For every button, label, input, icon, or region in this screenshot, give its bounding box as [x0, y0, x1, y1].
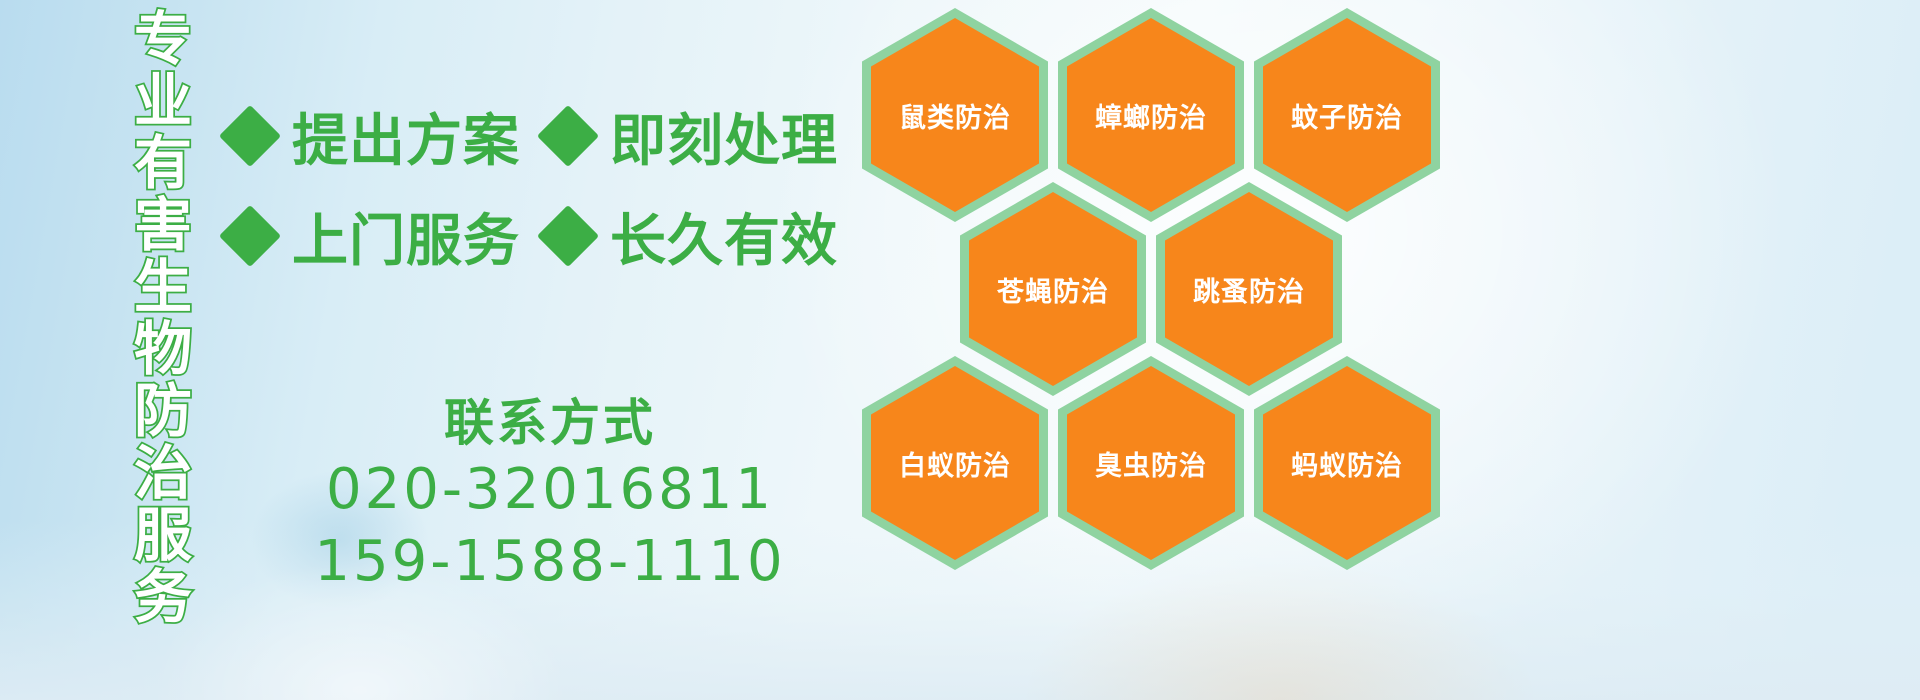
- feature-label: 提出方案: [292, 96, 520, 177]
- feature-label: 长久有效: [610, 196, 838, 277]
- contact-phone-landline[interactable]: 020-32016811: [230, 454, 870, 526]
- feature-label: 上门服务: [292, 196, 520, 277]
- vertical-title-char: 生: [134, 256, 192, 318]
- service-label: 跳蚤防治: [1193, 270, 1305, 309]
- vertical-title-char: 务: [134, 566, 192, 628]
- feature-list: 提出方案 即刻处理 上门服务 长久有效: [228, 86, 868, 286]
- service-label: 蚂蚁防治: [1291, 444, 1403, 483]
- service-hex-termite[interactable]: 白蚁防治: [862, 356, 1048, 570]
- service-label: 鼠类防治: [899, 96, 1011, 135]
- service-label: 白蚁防治: [899, 444, 1011, 483]
- hex-inner-fill: 鼠类防治: [871, 18, 1039, 212]
- feature-item-immediate-handling: 即刻处理: [546, 96, 838, 177]
- hex-inner-fill: 蚊子防治: [1263, 18, 1431, 212]
- feature-row: 提出方案 即刻处理: [228, 86, 868, 186]
- service-hex-ant[interactable]: 蚂蚁防治: [1254, 356, 1440, 570]
- feature-label: 即刻处理: [610, 96, 838, 177]
- service-label: 苍蝇防治: [997, 270, 1109, 309]
- vertical-title-char: 业: [134, 70, 192, 132]
- diamond-bullet-icon: [219, 105, 281, 167]
- contact-block: 联系方式 020-32016811 159-1588-1110: [230, 392, 870, 598]
- vertical-title-char: 有: [134, 132, 192, 194]
- hex-inner-fill: 苍蝇防治: [969, 192, 1137, 386]
- vertical-title-char: 治: [134, 442, 192, 504]
- service-hex-flea[interactable]: 跳蚤防治: [1156, 182, 1342, 396]
- service-label: 蚊子防治: [1291, 96, 1403, 135]
- pest-control-banner: 专 业 有 害 生 物 防 治 服 务 提出方案 即刻处理 上门服务: [0, 0, 1920, 700]
- hex-inner-fill: 跳蚤防治: [1165, 192, 1333, 386]
- feature-item-long-lasting-effect: 长久有效: [546, 196, 838, 277]
- contact-phone-mobile[interactable]: 159-1588-1110: [230, 526, 870, 598]
- vertical-title: 专 业 有 害 生 物 防 治 服 务: [108, 8, 218, 568]
- vertical-title-char: 害: [134, 194, 192, 256]
- service-hex-bedbug[interactable]: 臭虫防治: [1058, 356, 1244, 570]
- hex-inner-fill: 白蚁防治: [871, 366, 1039, 560]
- service-hex-fly[interactable]: 苍蝇防治: [960, 182, 1146, 396]
- contact-heading: 联系方式: [230, 392, 870, 454]
- service-label: 臭虫防治: [1095, 444, 1207, 483]
- diamond-bullet-icon: [537, 205, 599, 267]
- vertical-title-char: 服: [134, 504, 192, 566]
- feature-item-door-to-door-service: 上门服务: [228, 196, 520, 277]
- vertical-title-char: 防: [134, 380, 192, 442]
- hex-inner-fill: 臭虫防治: [1067, 366, 1235, 560]
- service-honeycomb: 鼠类防治 蟑螂防治 蚊子防治 苍蝇防治 跳蚤防治 白蚁防治: [862, 0, 1462, 560]
- service-hex-mosquito[interactable]: 蚊子防治: [1254, 8, 1440, 222]
- feature-item-propose-plan: 提出方案: [228, 96, 520, 177]
- feature-row: 上门服务 长久有效: [228, 186, 868, 286]
- service-hex-cockroach[interactable]: 蟑螂防治: [1058, 8, 1244, 222]
- hex-inner-fill: 蟑螂防治: [1067, 18, 1235, 212]
- service-label: 蟑螂防治: [1095, 96, 1207, 135]
- service-hex-rodent[interactable]: 鼠类防治: [862, 8, 1048, 222]
- diamond-bullet-icon: [219, 205, 281, 267]
- vertical-title-char: 物: [134, 318, 192, 380]
- diamond-bullet-icon: [537, 105, 599, 167]
- hex-inner-fill: 蚂蚁防治: [1263, 366, 1431, 560]
- vertical-title-char: 专: [134, 8, 192, 70]
